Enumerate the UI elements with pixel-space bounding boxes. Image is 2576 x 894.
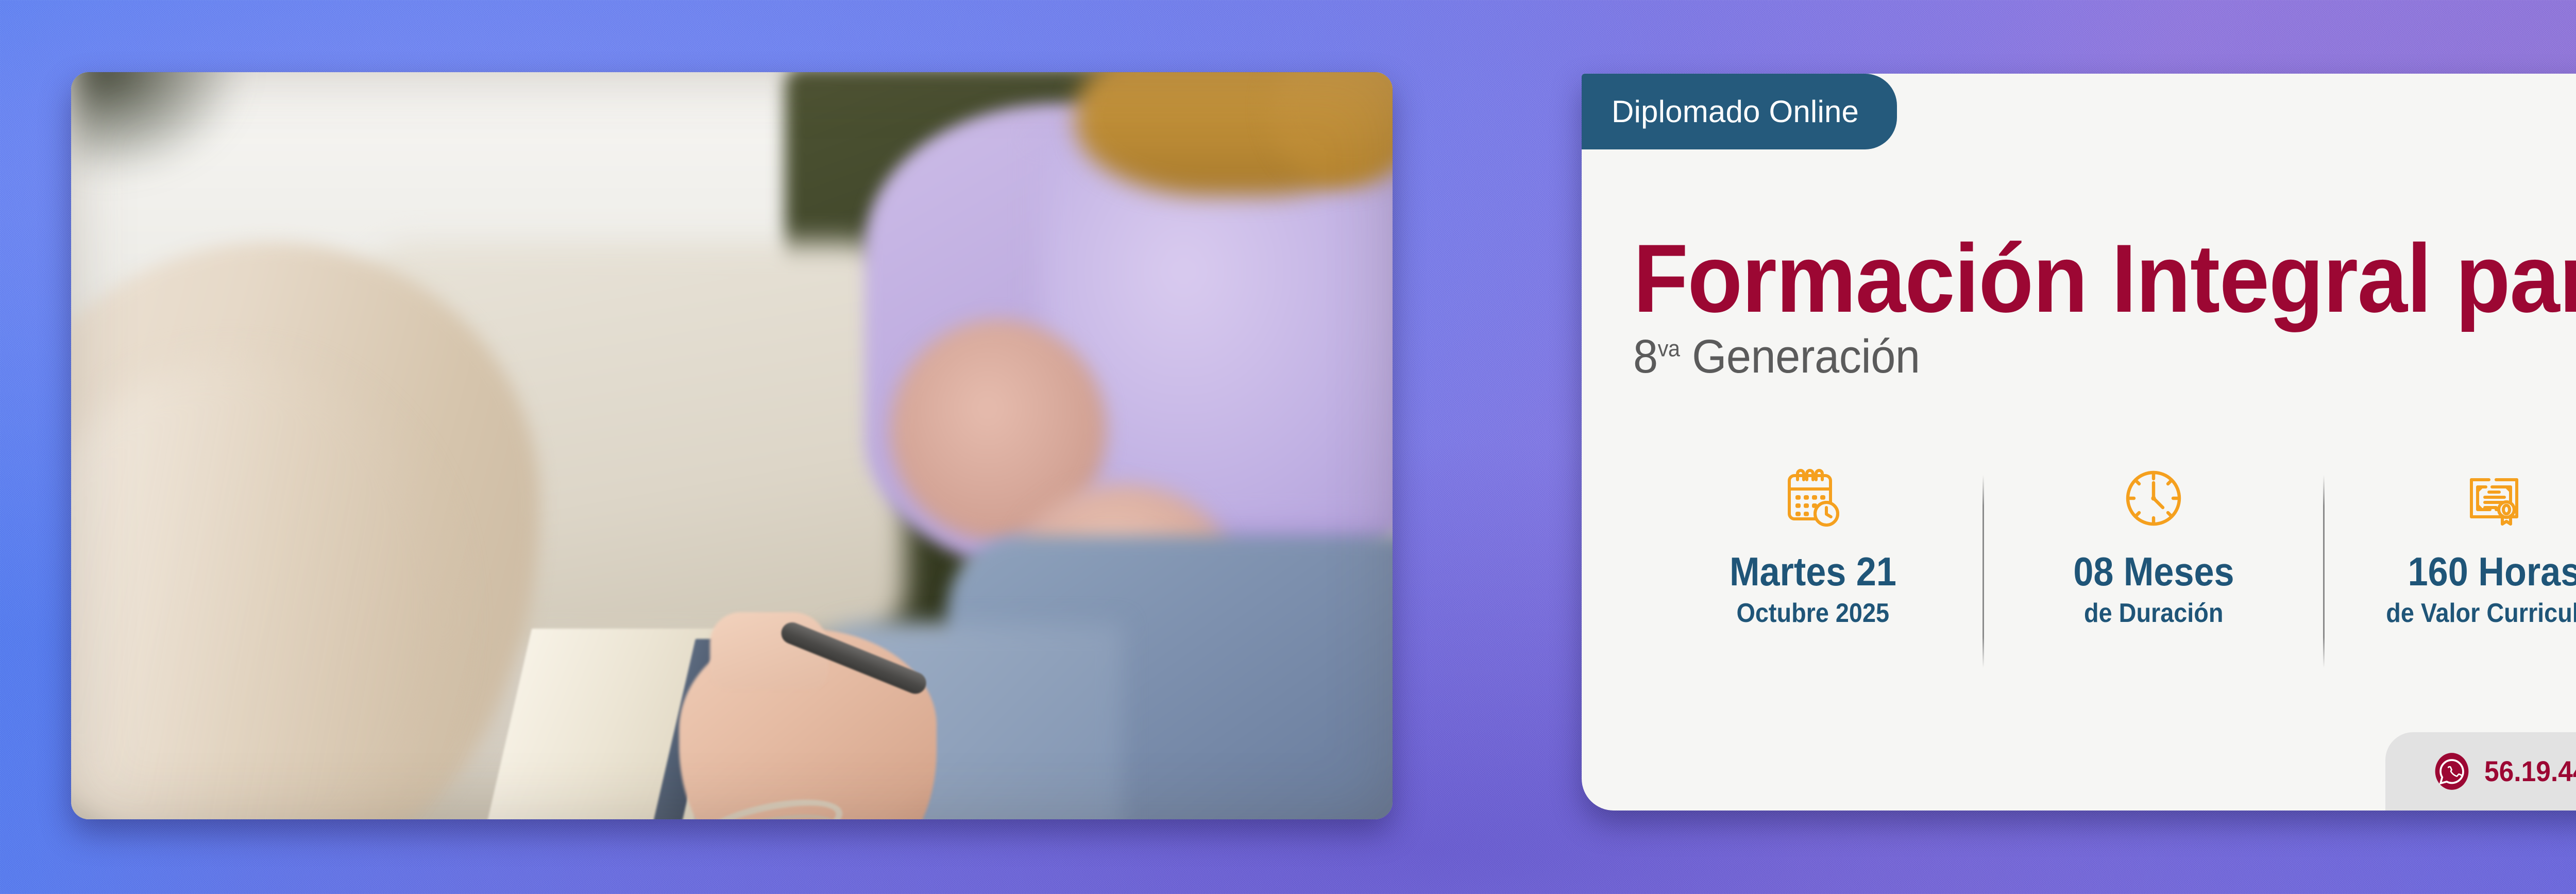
stat-duration-main: 08 Meses <box>2073 551 2234 592</box>
badge-label: Diplomado Online <box>1612 94 1859 129</box>
stat-hours: 160 Horas de Valor Curricular <box>2325 463 2576 679</box>
diplomado-online-badge: Diplomado Online <box>1582 74 1897 149</box>
title-block: Formación Integral para Psicoterapeutas … <box>1633 231 2576 380</box>
hero-photo <box>71 72 1393 819</box>
clock-icon <box>2121 463 2187 534</box>
generation-number: 8 <box>1633 330 1658 383</box>
calendar-clock-icon <box>1780 463 1846 534</box>
stat-start-date: Martes 21 Octubre 2025 <box>1643 463 1982 679</box>
stat-hours-main: 160 Horas <box>2408 551 2576 592</box>
course-info-card: Diplomado Online UNIVERSI <box>1582 74 2576 811</box>
stat-hours-sub: de Valor Curricular <box>2386 600 2576 627</box>
contact-whatsapp-label: 56.19.44.14.06 <box>2484 757 2576 786</box>
whatsapp-icon <box>2433 752 2471 790</box>
page-title: Formación Integral para Psicoterapeutas <box>1633 231 2576 326</box>
stat-start-date-sub: Octubre 2025 <box>1737 600 1890 627</box>
stat-start-date-main: Martes 21 <box>1730 551 1896 592</box>
photo-vignette <box>71 72 1393 819</box>
generation-word: Generación <box>1680 330 1920 383</box>
contact-whatsapp[interactable]: 56.19.44.14.06 <box>2433 752 2576 790</box>
contact-bar: 56.19.44.14.06 (222) 621 1771 www.cefaps… <box>2385 732 2576 811</box>
stat-duration: 08 Meses de Duración <box>1984 463 2323 679</box>
course-stats: Martes 21 Octubre 2025 <box>1643 463 2576 679</box>
certificate-icon <box>2461 463 2527 534</box>
generation-ordinal: va <box>1658 336 1680 362</box>
generation-subtitle: 8va Generación <box>1633 333 2576 380</box>
stat-duration-sub: de Duración <box>2084 600 2223 627</box>
